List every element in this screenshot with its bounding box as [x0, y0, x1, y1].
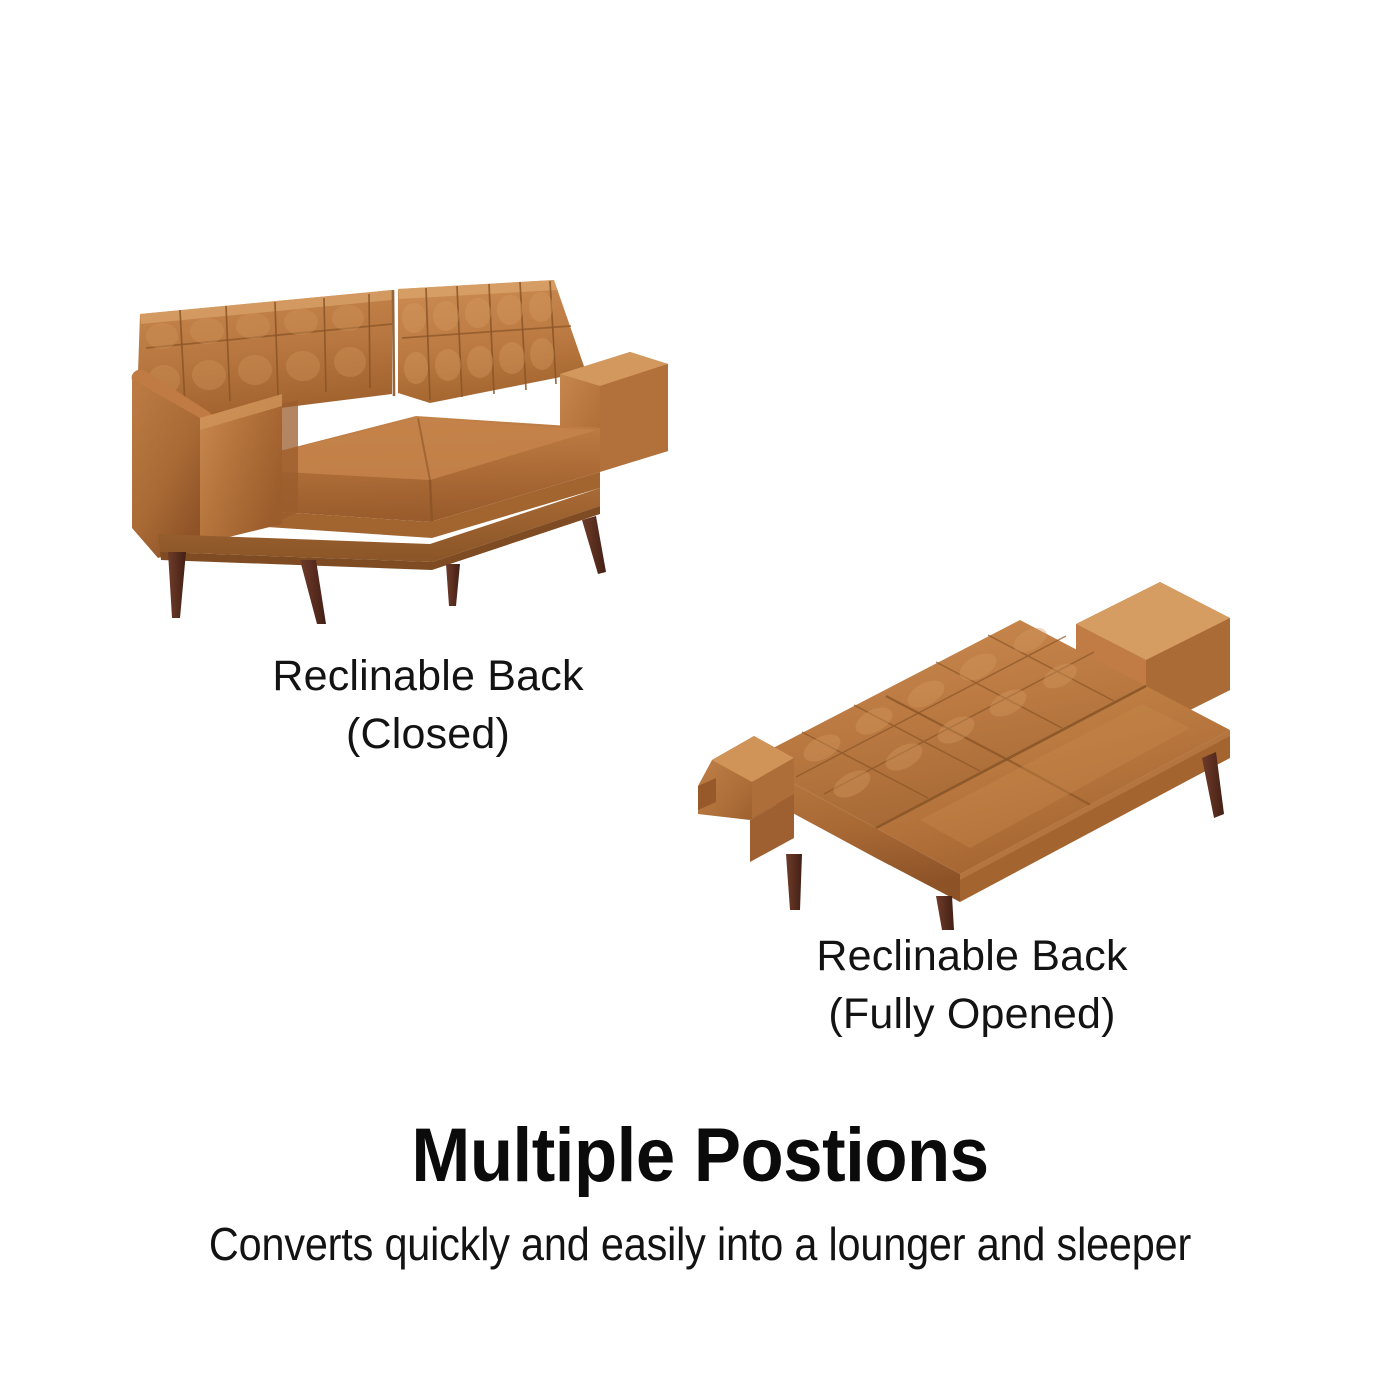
- caption-closed-line1: Reclinable Back: [272, 652, 583, 700]
- footer-text-block: Multiple Postions Converts quickly and e…: [0, 1118, 1400, 1268]
- sofa-leg: [582, 516, 606, 574]
- headline: Multiple Postions: [49, 1118, 1351, 1194]
- infographic-canvas: Reclinable Back (Closed) Reclinable Back…: [0, 0, 1400, 1400]
- caption-reclinable-back-closed: Reclinable Back (Closed): [128, 648, 728, 763]
- subtitle: Converts quickly and easily into a loung…: [70, 1220, 1330, 1268]
- caption-reclinable-back-fully-opened: Reclinable Back (Fully Opened): [672, 928, 1272, 1043]
- sofa-leg: [168, 552, 186, 618]
- bed-leg: [786, 854, 802, 910]
- caption-opened-line1: Reclinable Back: [816, 932, 1127, 980]
- sofa-leg: [446, 564, 460, 606]
- sofa-back-panel-right: [393, 280, 586, 403]
- sofa-closed-illustration: [130, 276, 730, 626]
- bed-leg: [936, 896, 954, 930]
- caption-closed-line2: (Closed): [128, 706, 728, 764]
- sofa-leg: [300, 560, 326, 624]
- caption-opened-line2: (Fully Opened): [672, 986, 1272, 1044]
- sofa-fully-opened-illustration: [690, 562, 1280, 932]
